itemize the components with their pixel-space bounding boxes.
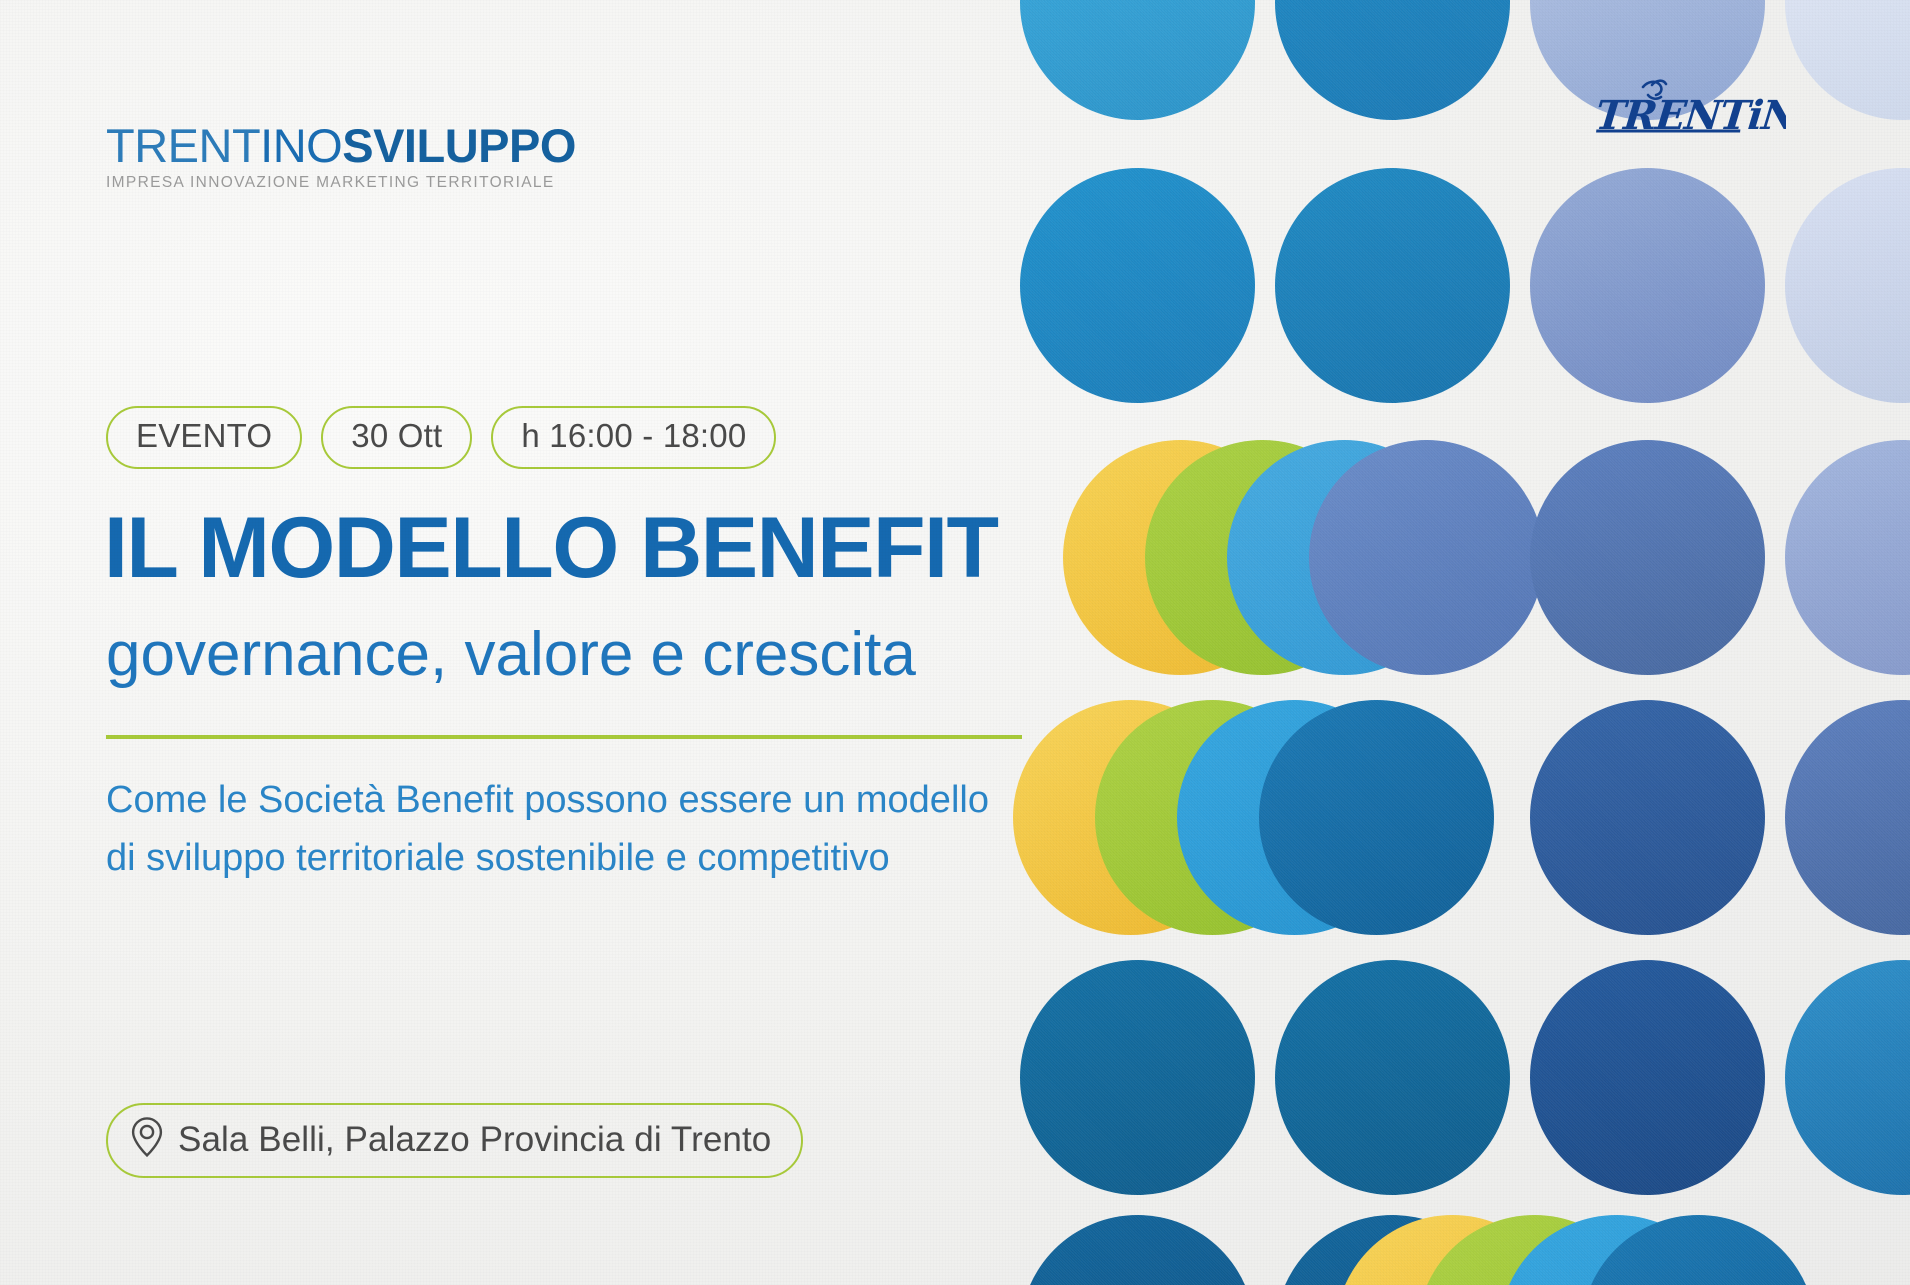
pattern-dot (1275, 168, 1510, 403)
trentino-sviluppo-logo: TRENTINOSVILUPPO IMPRESA INNOVAZIONE MAR… (106, 122, 576, 192)
pattern-dot (1020, 168, 1255, 403)
logo-tagline: IMPRESA INNOVAZIONE MARKETING TERRITORIA… (106, 174, 576, 192)
badge-event-time: h 16:00 - 18:00 (491, 406, 776, 469)
pattern-dot (1275, 960, 1510, 1195)
pattern-dot (1530, 168, 1765, 403)
pattern-dot (1020, 960, 1255, 1195)
pattern-dot (1020, 0, 1255, 120)
divider (106, 735, 1022, 739)
pattern-dot-accent-slate (1309, 440, 1544, 675)
pattern-dot (1785, 700, 1910, 935)
event-poster: TRENTiNO TRENTINOSVILUPPO IMPRESA INNOVA… (0, 0, 1910, 1285)
logo-wordmark: TRENTINOSVILUPPO (106, 122, 576, 169)
pattern-dot (1020, 1215, 1255, 1285)
logo-part-ino: INO (260, 119, 342, 172)
badge-event-date: 30 Ott (321, 406, 472, 469)
pattern-dot (1785, 168, 1910, 403)
trentino-logo: TRENTiNO (1596, 76, 1786, 146)
event-title: IL MODELLO BENEFIT (104, 505, 998, 591)
event-meta-badges: EVENTO 30 Ott h 16:00 - 18:00 (106, 406, 776, 469)
event-location-text: Sala Belli, Palazzo Provincia di Trento (178, 1120, 771, 1160)
logo-part-trent: TRENT (106, 119, 260, 172)
event-subtitle: governance, valore e crescita (106, 622, 916, 687)
badge-event-type: EVENTO (106, 406, 302, 469)
event-location-badge: Sala Belli, Palazzo Provincia di Trento (106, 1103, 803, 1178)
map-pin-icon (130, 1116, 164, 1163)
pattern-dot-accent-blue (1259, 700, 1494, 935)
description-line-2: di sviluppo territoriale sostenibile e c… (106, 830, 1036, 888)
pattern-dot (1530, 960, 1765, 1195)
poster-content: TRENTINOSVILUPPO IMPRESA INNOVAZIONE MAR… (0, 0, 1050, 1285)
pattern-dot (1785, 960, 1910, 1195)
pattern-dot (1785, 440, 1910, 675)
pattern-dot (1785, 0, 1910, 120)
pattern-dot (1275, 0, 1510, 120)
description-line-1: Come le Società Benefit possono essere u… (106, 772, 1036, 830)
decorative-dot-pattern (1035, 0, 1910, 1285)
event-description: Come le Società Benefit possono essere u… (106, 772, 1036, 888)
pattern-dot (1530, 440, 1765, 675)
logo-part-uppo: UPPO (445, 119, 576, 172)
logo-part-svil: SVIL (342, 119, 444, 172)
pattern-dot (1530, 700, 1765, 935)
